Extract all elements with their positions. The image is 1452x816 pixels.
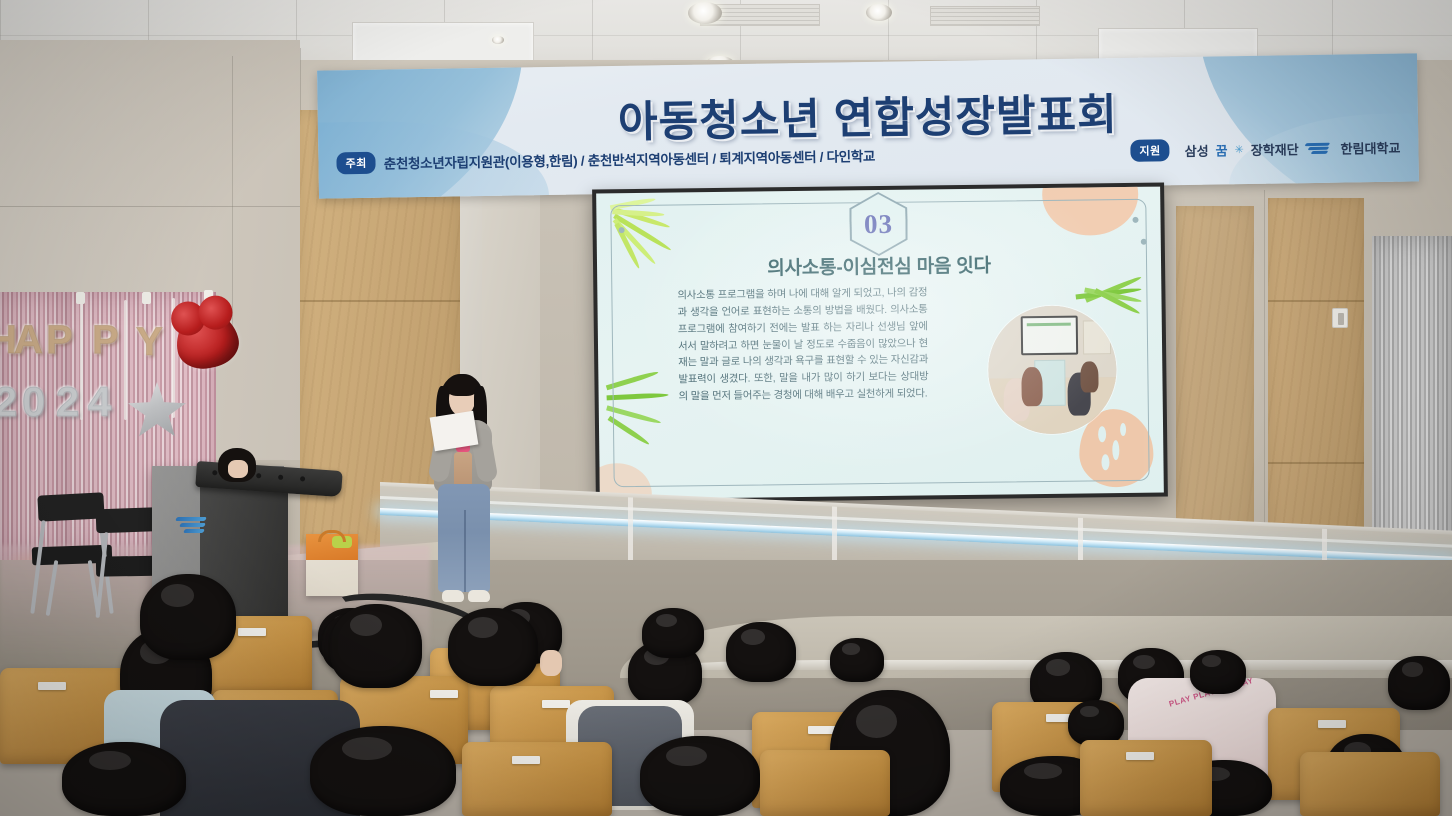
balloon-letter-a: A (14, 318, 43, 363)
event-photo-scene: H A P P Y 2 0 2 4 아동청소년 연합성장발표회 주최 춘천청소년… (0, 0, 1452, 816)
seat-number-tag (38, 682, 66, 690)
classroom-screen (1021, 316, 1078, 355)
wall-sign-plate (1332, 308, 1348, 328)
balloon-digit-0: 0 (22, 378, 45, 426)
auditorium-seat (462, 742, 612, 816)
frame-notch (1132, 217, 1138, 223)
wall-seam (0, 206, 300, 207)
seat-number-tag (542, 700, 570, 708)
sponsor-foundation: 장학재단 (1251, 139, 1299, 159)
audience-head (830, 638, 884, 682)
balloon-digit-2b: 2 (56, 378, 79, 426)
presenter-jeans (438, 484, 490, 592)
panel-divider (1268, 462, 1364, 464)
child-figure (1080, 362, 1098, 393)
audience-head (448, 608, 538, 686)
support-pill-label: 지원 (1130, 139, 1170, 162)
audience-head (330, 604, 422, 688)
script-paper (430, 411, 479, 451)
slide-body-text: 의사소통 프로그램을 하며 나에 대해 알게 되었고, 나의 감정과 생각을 언… (677, 285, 928, 406)
audience-head (62, 742, 186, 816)
seat-number-tag (1318, 720, 1346, 728)
seat-number-tag (512, 756, 540, 764)
wood-wall-panel (1268, 198, 1364, 578)
audience-head (726, 622, 796, 682)
child-figure (1022, 367, 1043, 406)
seat-number-tag (1126, 752, 1154, 760)
balloon-digit-2: 2 (0, 378, 17, 426)
wall-seam (232, 56, 233, 336)
balloon-letter-p: P (46, 318, 73, 363)
downlight-icon (492, 36, 504, 44)
presenter-shoe-left (442, 590, 464, 602)
slide-number: 03 (864, 208, 893, 239)
seat-number-tag (430, 690, 458, 698)
sparkle-icon: ✳ (1234, 143, 1243, 156)
hallym-wave-icon (1305, 141, 1331, 154)
seat-number-tag (238, 628, 266, 636)
audience-head (1388, 656, 1450, 710)
student-presenter (428, 372, 498, 612)
audience-head (140, 574, 236, 660)
auditorium-seat (1300, 752, 1440, 816)
projection-screen: 03 의사소통-이심전심 마음 잇다 의사소통 프로그램을 하며 나에 대해 알… (592, 183, 1168, 504)
audience-hand (540, 650, 562, 676)
host-pill-label: 주최 (336, 152, 376, 175)
hallym-wave-logo (176, 516, 210, 538)
audience-head (640, 736, 760, 816)
frame-notch (619, 227, 625, 233)
downlight-icon (866, 4, 892, 21)
sponsor-hallym: 한림대학교 (1340, 137, 1400, 157)
audience-head (642, 608, 704, 658)
auditorium-seat (760, 750, 890, 816)
balloon-letter-p2: P (92, 318, 119, 363)
orange-shopping-bag (306, 534, 358, 596)
panel-divider (1268, 300, 1364, 302)
balloon-stick (80, 300, 83, 420)
balloon-letter-y: Y (136, 320, 163, 365)
sponsor-samsung: 삼성 (1185, 140, 1209, 159)
sponsor-line: 지원 삼성 꿈 ✳ 장학재단 한림대학교 (1130, 136, 1400, 162)
balloon-clip (142, 292, 151, 304)
panel-divider (300, 300, 460, 302)
slide-photo (988, 305, 1118, 435)
balloon-digit-4: 4 (88, 378, 111, 426)
frame-notch (1141, 239, 1147, 245)
presentation-slide: 03 의사소통-이심전심 마음 잇다 의사소통 프로그램을 하며 나에 대해 알… (596, 187, 1164, 500)
presenter-shoe-right (468, 590, 490, 602)
wood-grain (1268, 198, 1364, 578)
balloon-stick (124, 300, 127, 420)
seated-person-face (228, 460, 248, 478)
ceiling-vent (930, 6, 1040, 26)
downlight-icon (688, 2, 722, 24)
audience-head (1190, 650, 1246, 694)
audience-head (310, 726, 456, 816)
sponsor-dream-mark: 꿈 (1215, 140, 1227, 159)
event-banner: 아동청소년 연합성장발표회 주최 춘천청소년자립지원관(이용형,한림) / 춘천… (317, 53, 1419, 198)
balloon-clip (76, 292, 85, 304)
